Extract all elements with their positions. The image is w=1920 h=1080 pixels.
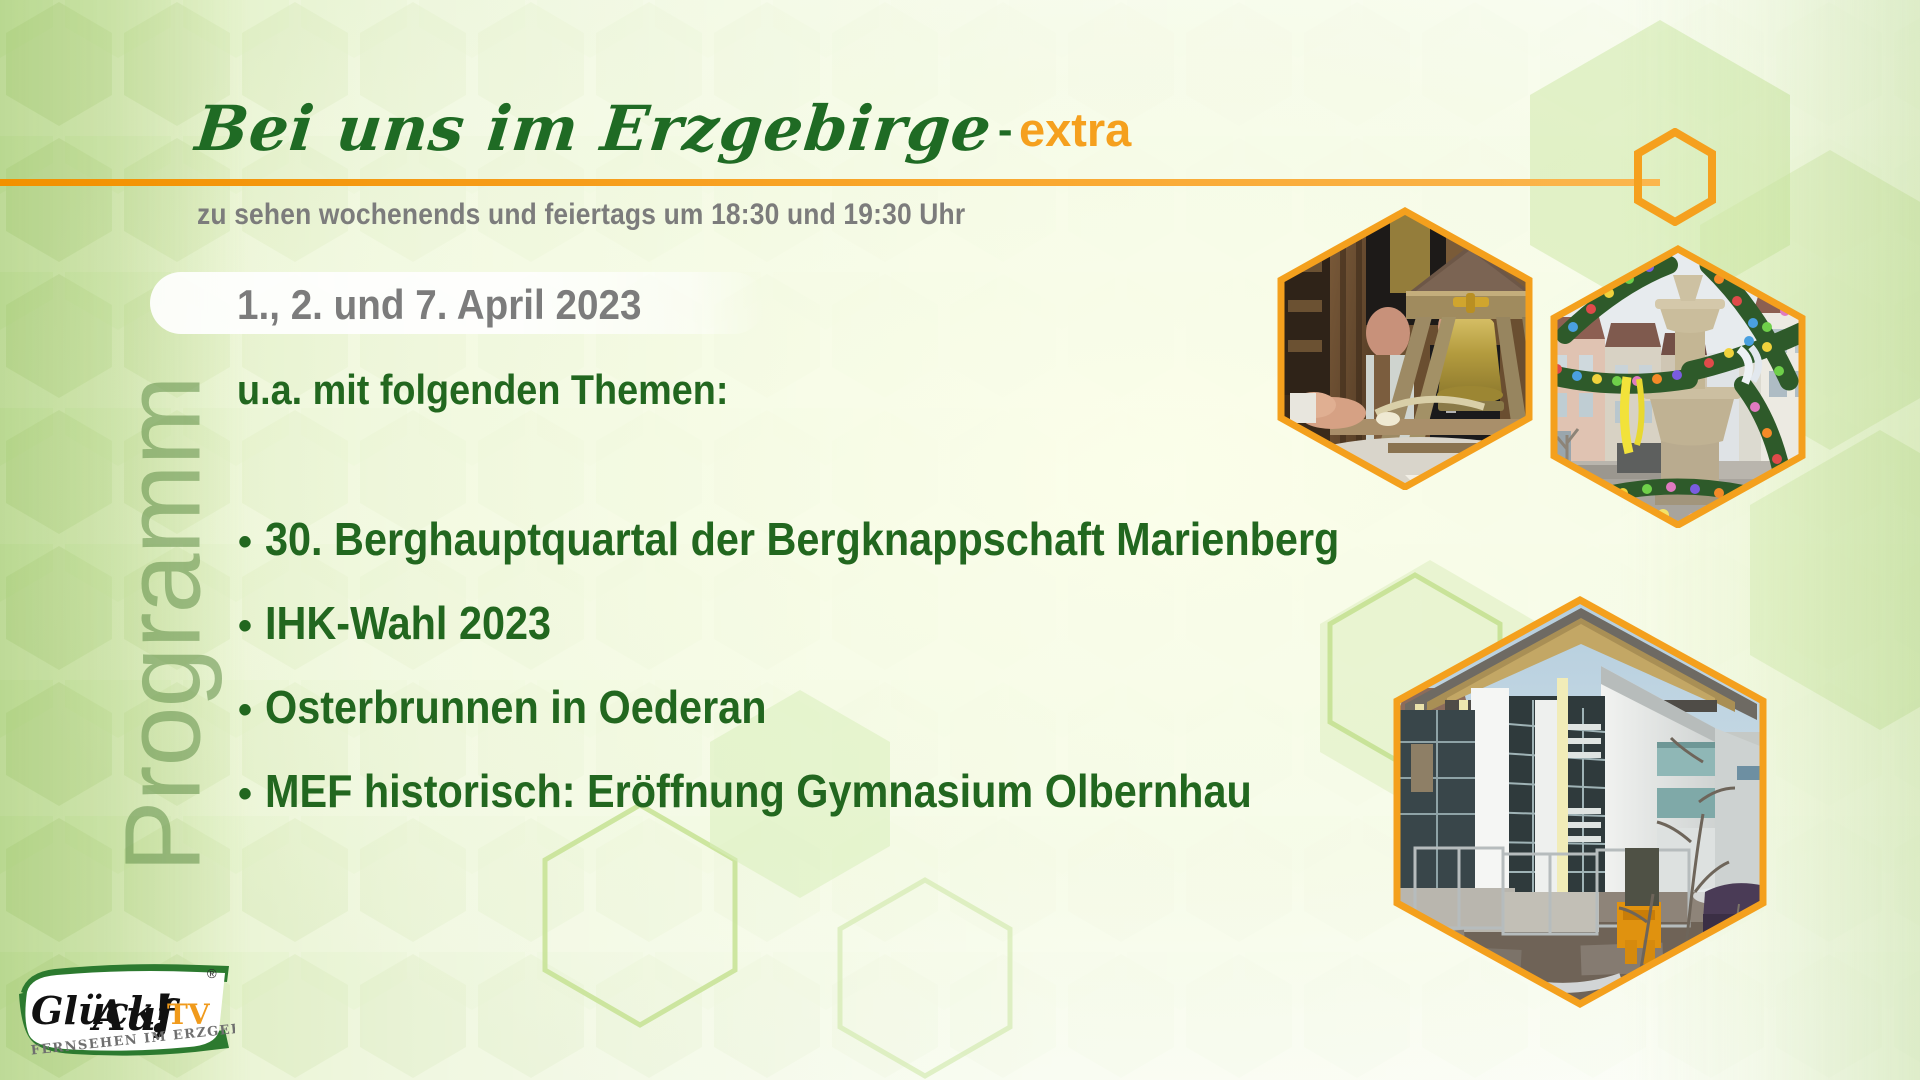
page-title-main: Bei uns im Erzgebirge xyxy=(192,92,995,165)
topic-text: MEF historisch: Eröffnung Gymnasium Olbe… xyxy=(265,764,1252,818)
page-title-dash: - xyxy=(992,108,1020,152)
bullet-dot-icon: • xyxy=(238,774,252,814)
list-item: • Osterbrunnen in Oederan xyxy=(238,680,1418,764)
bullet-dot-icon: • xyxy=(238,606,252,646)
topics-list: • 30. Berghauptquartal der Bergknappscha… xyxy=(238,512,1418,848)
gluckauf-tv-logo[interactable]: Glück Auf ! ® TV FERNSEHEN IM ERZGEBIRGE xyxy=(17,962,235,1066)
topics-intro-label: u.a. mit folgenden Themen: xyxy=(237,366,728,414)
photo-bell-in-wooden-frame xyxy=(1270,205,1540,490)
page-title-extra: extra xyxy=(1019,106,1131,153)
topic-text: Osterbrunnen in Oederan xyxy=(265,680,766,734)
logo-registered-icon: ® xyxy=(207,966,217,981)
topic-text: IHK-Wahl 2023 xyxy=(265,596,551,650)
bullet-dot-icon: • xyxy=(238,522,252,562)
bullet-dot-icon: • xyxy=(238,690,252,730)
list-item: • MEF historisch: Eröffnung Gymnasium Ol… xyxy=(238,764,1418,848)
vertical-section-label: Programm xyxy=(100,275,225,975)
list-item: • IHK-Wahl 2023 xyxy=(238,596,1418,680)
topic-text: 30. Berghauptquartal der Bergknappschaft… xyxy=(265,512,1339,566)
photo-gymnasium-olbernhau-building xyxy=(1385,592,1775,1012)
page-title: Bei uns im Erzgebirge-extra xyxy=(193,98,1135,160)
broadcast-dates: 1., 2. und 7. April 2023 xyxy=(237,281,641,329)
photo-easter-fountain-oederan xyxy=(1543,243,1813,528)
list-item: • 30. Berghauptquartal der Bergknappscha… xyxy=(238,512,1418,596)
hexagon-outline-icon xyxy=(1632,128,1718,226)
broadcast-program-slide: Bei uns im Erzgebirge-extra zu sehen woc… xyxy=(0,0,1920,1080)
orange-divider-line xyxy=(0,179,1660,186)
broadcast-times-subtitle: zu sehen wochenends und feiertags um 18:… xyxy=(197,198,965,232)
